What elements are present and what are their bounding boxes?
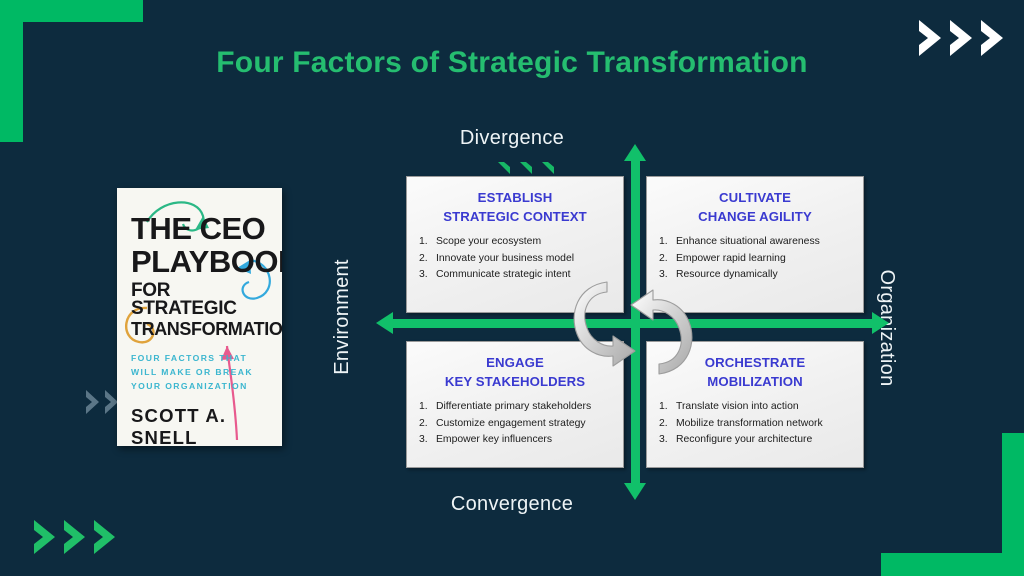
book-subtitle-line3: YOUR ORGANIZATION (131, 379, 270, 393)
list-item-number: 1. (419, 399, 431, 415)
book-title-line3: FOR STRATEGIC (131, 282, 270, 318)
quadrant-title-line2: STRATEGIC CONTEXT (417, 208, 613, 227)
list-item-text: Customize engagement strategy (436, 416, 586, 432)
list-item-number: 3. (419, 267, 431, 283)
page-title: Four Factors of Strategic Transformation (0, 46, 1024, 80)
list-item: 3.Empower key influencers (419, 432, 613, 448)
axis-label-divergence: Divergence (0, 127, 1024, 150)
list-item: 1.Enhance situational awareness (659, 234, 853, 250)
list-item-number: 2. (659, 251, 671, 267)
quadrant-list: 1.Translate vision into action 2.Mobiliz… (657, 399, 853, 447)
book-title-line1: THE CEO (131, 214, 270, 243)
quadrant-title: CULTIVATE CHANGE AGILITY (657, 189, 853, 226)
list-item-text: Translate vision into action (676, 399, 799, 415)
list-item-number: 2. (419, 251, 431, 267)
axis-arrow-up-icon (624, 144, 646, 161)
quadrant-title-line2: CHANGE AGILITY (657, 208, 853, 227)
list-item-text: Mobilize transformation network (676, 416, 823, 432)
list-item-text: Communicate strategic intent (436, 267, 571, 283)
list-item: 3.Reconfigure your architecture (659, 432, 853, 448)
list-item-text: Empower key influencers (436, 432, 552, 448)
list-item-text: Reconfigure your architecture (676, 432, 812, 448)
chevron-right-icon (84, 389, 101, 415)
book-subtitle-line2: WILL MAKE OR BREAK (131, 365, 270, 379)
green-tick-marks (497, 161, 555, 175)
list-item-text: Innovate your business model (436, 251, 574, 267)
chevron-right-icon (32, 518, 58, 556)
cycle-arrows-graphic (563, 276, 703, 380)
list-item: 1.Scope your ecosystem (419, 234, 613, 250)
chevron-right-icon (62, 518, 88, 556)
list-item: 1.Translate vision into action (659, 399, 853, 415)
book-cover-image: THE CEO PLAYBOOK FOR STRATEGIC TRANSFORM… (117, 188, 282, 446)
list-item: 1.Differentiate primary stakeholders (419, 399, 613, 415)
list-item-number: 1. (419, 234, 431, 250)
list-item-number: 2. (659, 416, 671, 432)
tick-mark-icon (519, 161, 533, 175)
chevron-group-behind-book (84, 389, 120, 415)
list-item: 2.Innovate your business model (419, 251, 613, 267)
book-subtitle: FOUR FACTORS THAT WILL MAKE OR BREAK YOU… (131, 351, 270, 394)
axis-label-convergence: Convergence (0, 493, 1024, 516)
axis-arrow-left-icon (376, 312, 393, 334)
quadrant-title-line1: CULTIVATE (657, 189, 853, 208)
list-item-number: 1. (659, 399, 671, 415)
list-item-number: 3. (659, 432, 671, 448)
list-item: 2.Customize engagement strategy (419, 416, 613, 432)
quadrant-title: ESTABLISH STRATEGIC CONTEXT (417, 189, 613, 226)
book-subtitle-line1: FOUR FACTORS THAT (131, 351, 270, 365)
list-item-number: 2. (419, 416, 431, 432)
book-author: SCOTT A. SNELL (131, 405, 270, 446)
list-item-text: Differentiate primary stakeholders (436, 399, 591, 415)
list-item: 2.Empower rapid learning (659, 251, 853, 267)
axis-arrow-right-icon (872, 312, 889, 334)
corner-bracket-bottom-right-horizontal (881, 553, 1024, 576)
axis-arrow-down-icon (624, 483, 646, 500)
list-item-number: 1. (659, 234, 671, 250)
book-title-line4: TRANSFORMATION (131, 321, 270, 338)
tick-mark-icon (541, 161, 555, 175)
chevron-group-bottom-left (32, 518, 118, 556)
tick-mark-icon (497, 161, 511, 175)
quadrant-list: 1.Differentiate primary stakeholders 2.C… (417, 399, 613, 447)
chevron-right-icon (92, 518, 118, 556)
list-item-text: Scope your ecosystem (436, 234, 541, 250)
list-item-text: Enhance situational awareness (676, 234, 820, 250)
list-item-text: Empower rapid learning (676, 251, 786, 267)
book-title-line2: PLAYBOOK (131, 247, 270, 276)
list-item-number: 3. (419, 432, 431, 448)
list-item: 2.Mobilize transformation network (659, 416, 853, 432)
axis-label-environment: Environment (331, 232, 354, 402)
quadrant-title-line1: ESTABLISH (417, 189, 613, 208)
